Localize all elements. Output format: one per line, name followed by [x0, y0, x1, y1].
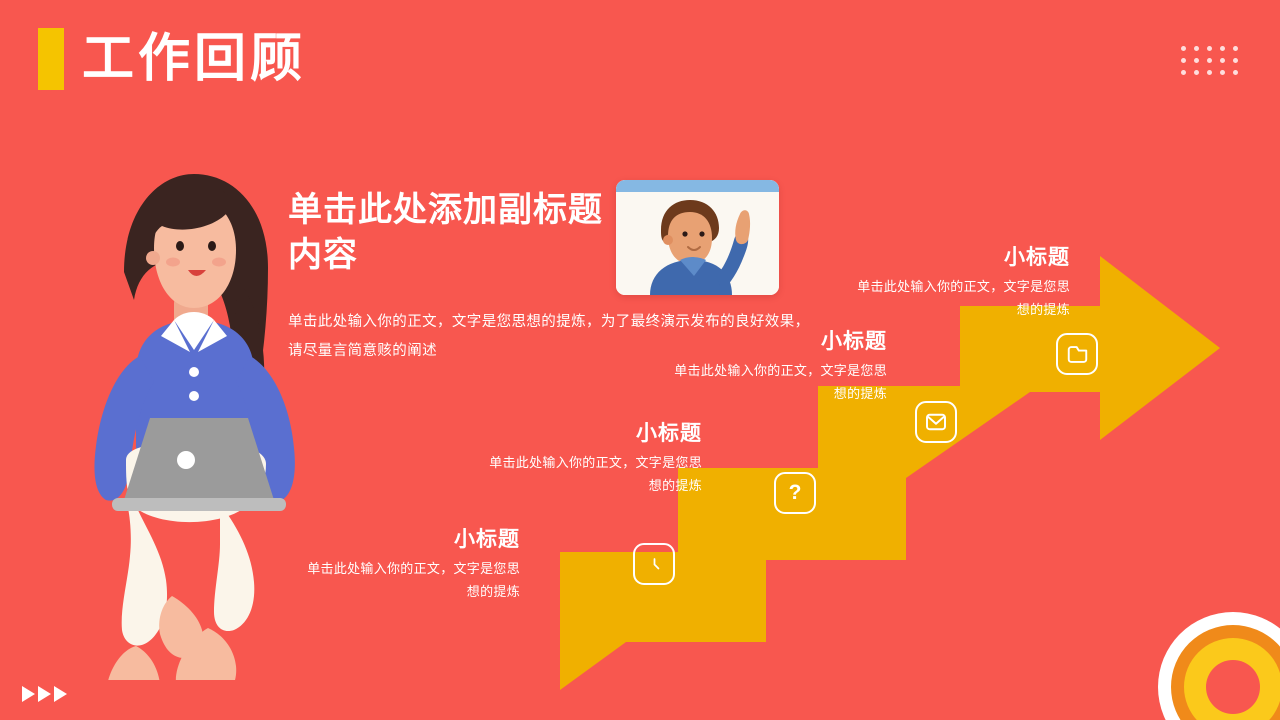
presentation-slide: 工作回顾: [0, 0, 1280, 720]
step-text-4: 小标题 单击此处输入你的正文，文字是您思想的提炼: [855, 246, 1070, 321]
step-title-4: 小标题: [855, 246, 1070, 269]
step-desc-2: 单击此处输入你的正文，文字是您思想的提炼: [487, 451, 702, 497]
ascending-staircase-arrow: [560, 330, 1260, 690]
slide-header: 工作回顾: [38, 28, 306, 90]
folder-icon: [1056, 333, 1098, 375]
video-window-body: [616, 192, 779, 295]
step-text-1: 小标题 单击此处输入你的正文，文字是您思想的提炼: [305, 528, 520, 603]
title-accent-bar: [38, 28, 64, 90]
step-title-1: 小标题: [305, 528, 520, 551]
question-mark-glyph: ?: [789, 482, 802, 505]
video-window-titlebar: [616, 180, 779, 192]
question-mark-icon: ?: [774, 472, 816, 514]
step-desc-4: 单击此处输入你的正文，文字是您思想的提炼: [855, 275, 1070, 321]
step-text-2: 小标题 单击此处输入你的正文，文字是您思想的提炼: [487, 422, 702, 497]
subtitle-block: 单击此处添加副标题内容: [288, 188, 618, 278]
video-call-window-illustration: [616, 180, 779, 295]
clock-icon: [633, 543, 675, 585]
page-title: 工作回顾: [82, 33, 306, 85]
concentric-rings-decoration: [1158, 612, 1280, 720]
step-title-2: 小标题: [487, 422, 702, 445]
mail-envelope-icon: [915, 401, 957, 443]
slide-subtitle: 单击此处添加副标题内容: [288, 188, 618, 278]
step-title-3: 小标题: [672, 330, 887, 353]
dot-grid-icon: [1181, 46, 1246, 82]
play-triangles-icon: [22, 686, 67, 702]
step-desc-1: 单击此处输入你的正文，文字是您思想的提炼: [305, 557, 520, 603]
step-desc-3: 单击此处输入你的正文，文字是您思想的提炼: [672, 359, 887, 405]
woman-with-laptop-illustration: [62, 160, 322, 680]
step-text-3: 小标题 单击此处输入你的正文，文字是您思想的提炼: [672, 330, 887, 405]
